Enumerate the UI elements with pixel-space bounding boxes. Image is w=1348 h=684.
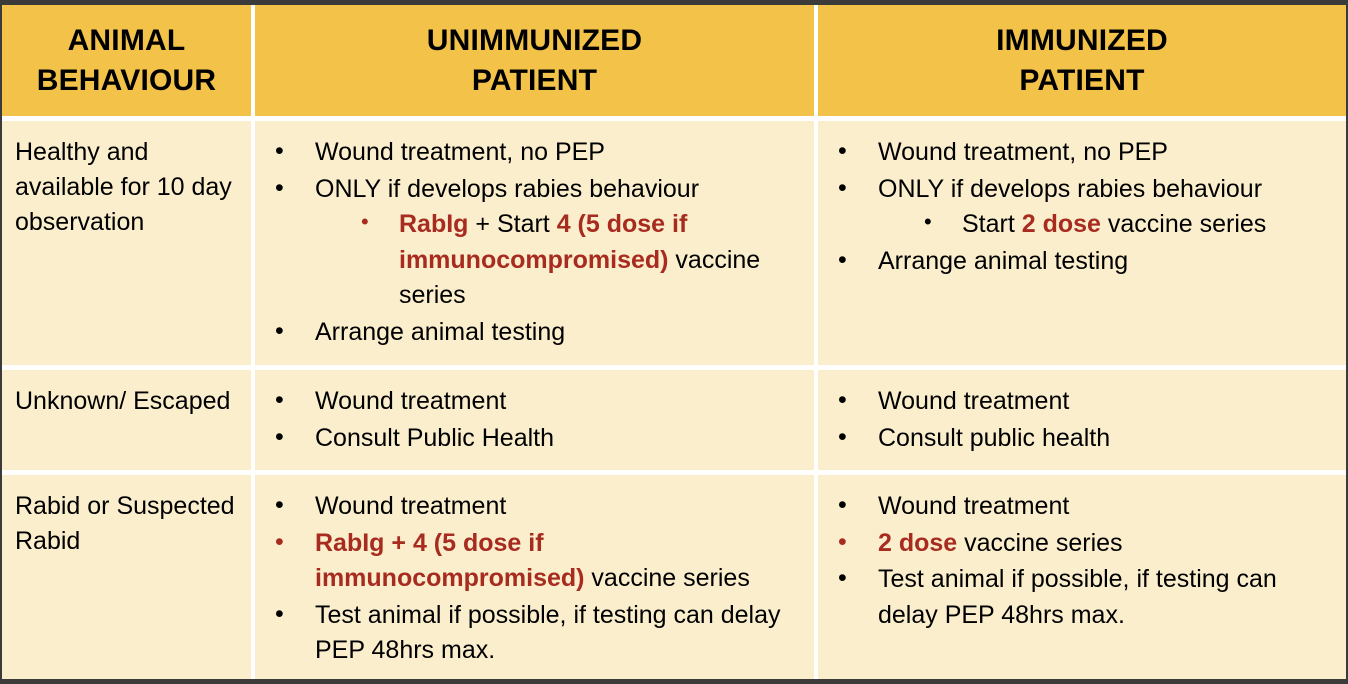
header-cell-animal-behaviour: ANIMAL BEHAVIOUR <box>2 5 251 116</box>
header-line-1: UNIMMUNIZED <box>427 21 643 61</box>
highlight-dose: 2 dose <box>1022 210 1101 238</box>
highlight-dose: 2 dose <box>878 529 957 557</box>
header-text-animal-behaviour: ANIMAL BEHAVIOUR <box>37 21 217 100</box>
plain-text: Start <box>962 210 1022 238</box>
list-item-text: Wound treatment <box>878 387 1069 415</box>
plain-text: vaccine series <box>584 564 749 592</box>
header-line-1: ANIMAL <box>37 21 217 61</box>
plain-text: vaccine series <box>1101 210 1266 238</box>
list-item-text: Wound treatment, no PEP <box>315 138 605 166</box>
bullet-list: Wound treatment 2 dose vaccine series Te… <box>818 489 1346 633</box>
header-line-2: BEHAVIOUR <box>37 61 217 101</box>
list-item: ONLY if develops rabies behaviour RabIg … <box>273 172 800 314</box>
list-item: Wound treatment <box>836 384 1332 420</box>
list-item-text: Test animal if possible, if testing can … <box>315 601 781 665</box>
header-text-immunized-patient: IMMUNIZED PATIENT <box>996 21 1168 100</box>
list-item: Test animal if possible, if testing can … <box>836 562 1332 633</box>
sub-bullet-list: Start 2 dose vaccine series <box>878 207 1332 243</box>
bullet-list: Wound treatment, no PEP ONLY if develops… <box>818 135 1346 279</box>
list-item: Wound treatment <box>273 489 800 525</box>
list-item-text: Consult public health <box>878 424 1110 452</box>
list-item: 2 dose vaccine series <box>836 526 1332 562</box>
list-item: Wound treatment <box>273 384 800 420</box>
list-item-text: Arrange animal testing <box>878 247 1128 275</box>
sub-bullet-list: RabIg + Start 4 (5 dose if immunocomprom… <box>315 207 800 314</box>
list-item-text: Wound treatment <box>315 387 506 415</box>
list-item: ONLY if develops rabies behaviour Start … <box>836 172 1332 243</box>
table-row: Rabid or Suspected Rabid Wound treatment… <box>2 470 1346 679</box>
bullet-list: Wound treatment, no PEP ONLY if develops… <box>255 135 814 350</box>
list-item-text: Wound treatment <box>315 492 506 520</box>
list-item: Test animal if possible, if testing can … <box>273 598 800 669</box>
row-label-healthy-available: Healthy and available for 10 day observa… <box>2 121 251 365</box>
row-label-unknown-escaped: Unknown/ Escaped <box>2 370 251 470</box>
bullet-list: Wound treatment Consult public health <box>818 384 1346 456</box>
list-item-text: Consult Public Health <box>315 424 554 452</box>
list-item: Wound treatment <box>836 489 1332 525</box>
header-line-2: PATIENT <box>996 61 1168 101</box>
list-item-text: Arrange animal testing <box>315 318 565 346</box>
sub-list-item: Start 2 dose vaccine series <box>922 207 1332 243</box>
cell-immunized-rabid-suspected: Wound treatment 2 dose vaccine series Te… <box>814 475 1346 679</box>
list-item: Arrange animal testing <box>273 315 800 351</box>
list-item: Wound treatment, no PEP <box>273 135 800 171</box>
cell-immunized-healthy-available: Wound treatment, no PEP ONLY if develops… <box>814 121 1346 365</box>
header-line-1: IMMUNIZED <box>996 21 1168 61</box>
bullet-list: Wound treatment RabIg + 4 (5 dose if imm… <box>255 489 814 669</box>
highlight-rabig: RabIg <box>399 210 468 238</box>
header-cell-immunized-patient: IMMUNIZED PATIENT <box>814 5 1346 116</box>
rabies-pep-decision-table: ANIMAL BEHAVIOUR UNIMMUNIZED PATIENT IMM… <box>0 0 1348 684</box>
list-item-text: ONLY if develops rabies behaviour <box>878 175 1262 203</box>
list-item: Consult public health <box>836 421 1332 457</box>
list-item: Arrange animal testing <box>836 244 1332 280</box>
list-item: Consult Public Health <box>273 421 800 457</box>
plain-text: + Start <box>468 210 556 238</box>
plain-text: vaccine series <box>957 529 1122 557</box>
table-row: Unknown/ Escaped Wound treatment Consult… <box>2 365 1346 470</box>
cell-unimmunized-rabid-suspected: Wound treatment RabIg + 4 (5 dose if imm… <box>251 475 814 679</box>
table-header-row: ANIMAL BEHAVIOUR UNIMMUNIZED PATIENT IMM… <box>2 5 1346 116</box>
header-cell-unimmunized-patient: UNIMMUNIZED PATIENT <box>251 5 814 116</box>
cell-unimmunized-healthy-available: Wound treatment, no PEP ONLY if develops… <box>251 121 814 365</box>
table-row: Healthy and available for 10 day observa… <box>2 116 1346 365</box>
plain-text: + <box>384 529 413 557</box>
row-label-rabid-suspected: Rabid or Suspected Rabid <box>2 475 251 679</box>
cell-immunized-unknown-escaped: Wound treatment Consult public health <box>814 370 1346 470</box>
list-item: Wound treatment, no PEP <box>836 135 1332 171</box>
list-item: RabIg + 4 (5 dose if immunocompromised) … <box>273 526 800 597</box>
cell-unimmunized-unknown-escaped: Wound treatment Consult Public Health <box>251 370 814 470</box>
list-item-text: Wound treatment, no PEP <box>878 138 1168 166</box>
list-item-text: Test animal if possible, if testing can … <box>878 565 1277 629</box>
list-item-text: Wound treatment <box>878 492 1069 520</box>
bullet-list: Wound treatment Consult Public Health <box>255 384 814 456</box>
header-line-2: PATIENT <box>427 61 643 101</box>
list-item-text: ONLY if develops rabies behaviour <box>315 175 699 203</box>
header-text-unimmunized-patient: UNIMMUNIZED PATIENT <box>427 21 643 100</box>
highlight-rabig: RabIg <box>315 529 384 557</box>
sub-list-item: RabIg + Start 4 (5 dose if immunocomprom… <box>359 207 800 314</box>
